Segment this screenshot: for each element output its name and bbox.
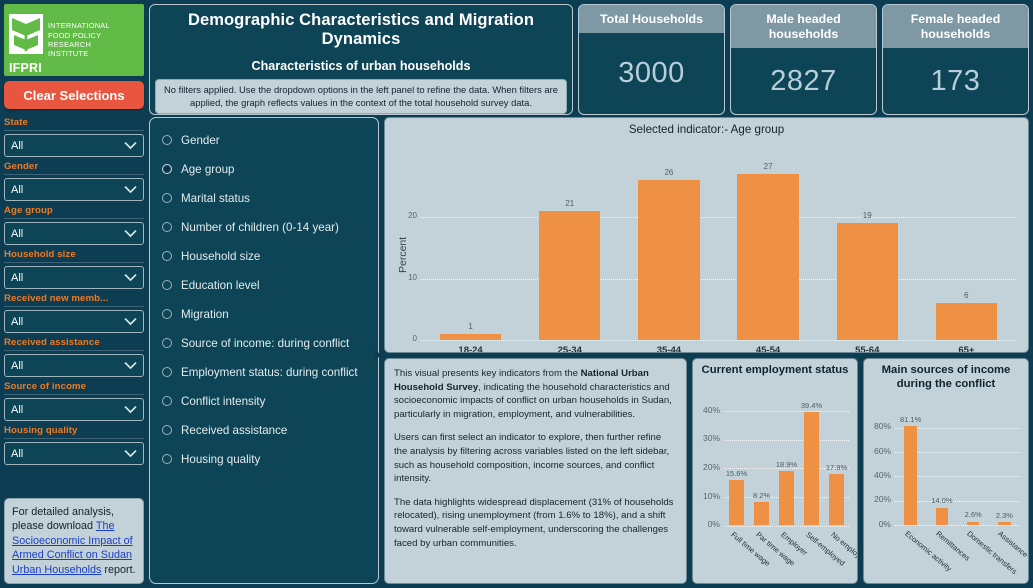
indicator-option-label: Conflict intensity [181,395,265,408]
chevron-down-icon [124,449,137,458]
kpi-label: Female headed households [883,5,1028,48]
filter-source-of-income: Source of incomeAll [4,381,144,421]
indicator-option-label: Marital status [181,192,250,205]
bar[interactable] [904,426,917,525]
gridline [421,279,1016,280]
employment-chart-card: Current employment status 0%10%20%30%40%… [692,358,858,584]
filter-dropdown[interactable]: All [4,222,144,245]
main-chart-title: Selected indicator:- Age group [385,118,1028,136]
bar-value-label: 81.1% [895,415,926,424]
radio-icon [162,338,172,348]
description-paragraph-3: The data highlights widespread displacem… [394,496,677,550]
kpi-female-headed-households: Female headed households 173 [882,4,1029,115]
description-card: This visual presents key indicators from… [384,358,687,584]
filter-list: StateAllGenderAllAge groupAllHousehold s… [4,117,144,494]
indicator-option-migration[interactable]: Migration [162,300,372,328]
chevron-down-icon [124,273,137,282]
filter-housing-quality: Housing qualityAll [4,425,144,465]
income-chart-card: Main sources of income during the confli… [863,358,1029,584]
y-axis-tick: 40% [693,405,720,415]
filter-selected-value: All [11,272,23,284]
indicator-option-label: Migration [181,308,229,321]
indicator-option-received-assistance[interactable]: Received assistance [162,416,372,444]
indicator-option-label: Education level [181,279,260,292]
bar-value-label: 21 [520,199,619,208]
indicator-option-label: Housing quality [181,453,260,466]
indicator-option-label: Number of children (0-14 year) [181,221,339,234]
indicator-option-label: Employment status: during conflict [181,366,358,379]
y-axis-tick: 60% [864,446,891,456]
filter-dropdown[interactable]: All [4,310,144,333]
x-axis-tick: 65+ [917,345,1016,353]
bar[interactable] [998,522,1011,525]
kpi-male-headed-households: Male headed households 2827 [730,4,877,115]
filter-selected-value: All [11,228,23,240]
indicator-option-label: Received assistance [181,424,287,437]
filter-label: Gender [4,161,144,175]
charts-column: Selected indicator:- Age group 01020118-… [384,117,1029,584]
bar-value-label: 39.4% [799,401,824,410]
ifpri-leaf-icon [9,14,43,66]
report-download-note: For detailed analysis, please download T… [4,498,144,585]
chevron-down-icon [124,185,137,194]
indicator-option-housing-quality[interactable]: Housing quality [162,445,372,473]
filter-age-group: Age groupAll [4,205,144,245]
bar-value-label: 27 [719,162,818,171]
footer-suffix: report. [101,564,135,576]
bar[interactable] [737,174,798,340]
dashboard-root: INTERNATIONAL FOOD POLICY RESEARCH INSTI… [0,0,1033,588]
kpi-total-households: Total Households 3000 [578,4,725,115]
indicator-option-number-of-children-0-14-year[interactable]: Number of children (0-14 year) [162,213,372,241]
y-axis-tick: 80% [864,421,891,431]
chevron-down-icon [124,141,137,150]
filter-label: Received new memb... [4,293,144,307]
income-bar-chart: 0%20%40%60%80%81.1%Economic activity14.0… [864,391,1028,583]
chevron-down-icon [124,229,137,238]
indicator-option-education-level[interactable]: Education level [162,271,372,299]
main-bar-chart: 01020118-242125-342635-442745-541955-646… [385,136,1028,353]
filter-state: StateAll [4,117,144,157]
filter-dropdown[interactable]: All [4,354,144,377]
bar[interactable] [936,303,997,340]
main-row: StateAllGenderAllAge groupAllHousehold s… [0,115,1033,588]
bar[interactable] [829,474,845,525]
filter-selected-value: All [11,140,23,152]
page-title: Demographic Characteristics and Migratio… [155,11,567,49]
clear-selections-button[interactable]: Clear Selections [4,81,144,109]
bar-value-label: 17.9% [824,463,849,472]
x-axis-tick: 18-24 [421,345,520,353]
radio-icon [162,193,172,203]
radio-icon [162,135,172,145]
filter-received-assistance: Received assistanceAll [4,337,144,377]
kpi-value: 173 [883,48,1028,114]
indicator-option-label: Gender [181,134,220,147]
panel-resize-handle[interactable] [374,346,383,355]
bar-value-label: 14.0% [926,496,957,505]
main-chart-card: Selected indicator:- Age group 01020118-… [384,117,1029,353]
ifpri-acronym: IFPRI [9,61,42,75]
radio-icon [162,367,172,377]
indicator-option-label: Household size [181,250,260,263]
radio-icon [162,222,172,232]
radio-icon [162,280,172,290]
description-paragraph-2: Users can first select an indicator to e… [394,431,677,485]
indicator-option-label: Source of income: during conflict [181,337,349,350]
bar[interactable] [754,502,770,525]
indicator-option-source-of-income-during-conflict[interactable]: Source of income: during conflict [162,329,372,357]
bar-value-label: 19 [818,211,917,220]
bar-value-label: 18.9% [774,460,799,469]
bar[interactable] [638,180,699,340]
indicator-option-age-group[interactable]: Age group [162,155,372,183]
filter-dropdown[interactable]: All [4,134,144,157]
bar[interactable] [779,471,795,525]
chevron-down-icon [124,405,137,414]
filter-label: Source of income [4,381,144,395]
y-axis-tick: 40% [864,470,891,480]
y-axis-tick: 20% [693,462,720,472]
filter-gender: GenderAll [4,161,144,201]
gridline [895,525,1020,526]
bar-value-label: 15.6% [724,469,749,478]
desc-p1-a: This visual presents key indicators from… [394,368,581,379]
indicator-radio-panel: GenderAge groupMarital statusNumber of c… [149,117,379,584]
bar[interactable] [837,223,898,340]
chevron-down-icon [124,317,137,326]
x-axis-tick: 25-34 [520,345,619,353]
filter-label: Household size [4,249,144,263]
y-axis-tick: 0% [864,519,891,529]
y-axis-title: Percent [397,237,409,273]
x-axis-tick: 55-64 [818,345,917,353]
kpi-value: 3000 [579,33,724,114]
filter-dropdown[interactable]: All [4,266,144,289]
y-axis-tick: 10% [693,491,720,501]
filter-label: State [4,117,144,131]
bar[interactable] [729,480,745,525]
radio-icon [162,309,172,319]
indicator-option-employment-status-during-conflict[interactable]: Employment status: during conflict [162,358,372,386]
income-chart-title: Main sources of income during the confli… [864,359,1028,391]
indicator-option-marital-status[interactable]: Marital status [162,184,372,212]
filter-selected-value: All [11,316,23,328]
filter-selected-value: All [11,448,23,460]
y-axis-tick: 0 [385,334,417,343]
y-axis-tick: 0% [693,519,720,529]
bar[interactable] [440,334,501,340]
x-axis-tick: 45-54 [719,345,818,353]
filter-received-new-memb: Received new memb...All [4,293,144,333]
bottom-row: This visual presents key indicators from… [384,358,1029,584]
filter-dropdown[interactable]: All [4,178,144,201]
bar-value-label: 2.6% [958,510,989,519]
top-row: INTERNATIONAL FOOD POLICY RESEARCH INSTI… [0,0,1033,115]
kpi-value: 2827 [731,48,876,114]
filter-dropdown[interactable]: All [4,442,144,465]
employment-chart-title: Current employment status [693,359,857,378]
filter-dropdown[interactable]: All [4,398,144,421]
gridline [421,340,1016,341]
gridline [724,440,849,441]
filter-selected-value: All [11,404,23,416]
chevron-down-icon [124,361,137,370]
ifpri-logo: INTERNATIONAL FOOD POLICY RESEARCH INSTI… [4,4,144,76]
radio-icon [162,396,172,406]
filter-label: Housing quality [4,425,144,439]
radio-icon [162,425,172,435]
filter-label: Received assistance [4,337,144,351]
y-axis-tick: 10 [385,273,417,282]
filter-sidebar: StateAllGenderAllAge groupAllHousehold s… [4,117,144,584]
kpi-label: Male headed households [731,5,876,48]
y-axis-tick: 20% [864,494,891,504]
description-paragraph-1: This visual presents key indicators from… [394,367,677,421]
gridline [724,411,849,412]
employment-bar-chart: 0%10%20%30%40%15.6%Full time wage8.2%Par… [693,378,857,584]
radio-icon [162,454,172,464]
gridline [421,217,1016,218]
y-axis-tick: 30% [693,433,720,443]
gridline [724,526,849,527]
filter-label: Age group [4,205,144,219]
bar[interactable] [967,522,980,525]
indicator-option-conflict-intensity[interactable]: Conflict intensity [162,387,372,415]
bar-value-label: 2.3% [989,511,1020,520]
x-axis-tick: 35-44 [619,345,718,353]
kpi-label: Total Households [579,5,724,33]
filter-household-size: Household sizeAll [4,249,144,289]
brand-column: INTERNATIONAL FOOD POLICY RESEARCH INSTI… [4,4,144,115]
filter-selected-value: All [11,184,23,196]
bar[interactable] [936,508,949,525]
filter-selected-value: All [11,360,23,372]
y-axis-tick: 20 [385,211,417,220]
radio-icon [162,251,172,261]
bar-value-label: 6 [917,291,1016,300]
bar-value-label: 1 [421,322,520,331]
indicator-option-label: Age group [181,163,235,176]
bar[interactable] [539,211,600,340]
ifpri-logo-words: INTERNATIONAL FOOD POLICY RESEARCH INSTI… [48,21,110,59]
indicator-option-household-size[interactable]: Household size [162,242,372,270]
radio-icon [162,164,172,174]
bar-value-label: 26 [619,168,718,177]
filter-note: No filters applied. Use the dropdown opt… [155,79,567,114]
header-card: Demographic Characteristics and Migratio… [149,4,573,115]
bar[interactable] [804,412,820,525]
page-subtitle: Characteristics of urban households [251,59,470,73]
kpi-group: Total Households 3000 Male headed househ… [578,4,1029,115]
bar-value-label: 8.2% [749,491,774,500]
indicator-option-gender[interactable]: Gender [162,126,372,154]
